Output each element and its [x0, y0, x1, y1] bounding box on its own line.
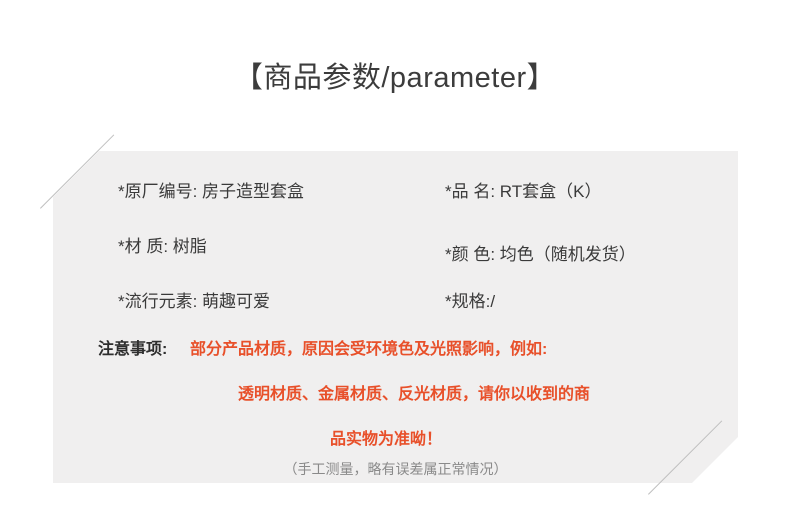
parameter-product-name: *品 名: RT套盒（K） — [445, 178, 601, 206]
notice-text-line-3: 品实物为准呦！ — [330, 428, 442, 452]
page-title: 【商品参数/parameter】 — [0, 58, 790, 98]
parameter-specification: *规格:/ — [445, 288, 495, 316]
parameter-factory-code: *原厂编号: 房子造型套盒 — [118, 178, 304, 206]
notice-text-line-2: 透明材质、金属材质、反光材质，请你以收到的商 — [238, 383, 590, 407]
parameter-material: *材 质: 树脂 — [118, 233, 207, 261]
parameter-row: *原厂编号: 房子造型套盒 *品 名: RT套盒（K） — [53, 178, 738, 206]
parameter-color: *颜 色: 均色（随机发货） — [445, 241, 636, 269]
parameter-row: *材 质: 树脂 *颜 色: 均色（随机发货） — [53, 233, 738, 261]
notice-label: 注意事项: — [98, 338, 167, 362]
product-parameter-panel: 【商品参数/parameter】 *原厂编号: 房子造型套盒 *品 名: RT套… — [0, 0, 790, 527]
measurement-footnote: （手工测量，略有误差属正常情况） — [53, 459, 738, 479]
notice-text-line-1: 部分产品材质，原因会受环境色及光照影响，例如: — [190, 338, 547, 362]
parameter-trend-element: *流行元素: 萌趣可爱 — [118, 288, 270, 316]
parameter-row: *流行元素: 萌趣可爱 *规格:/ — [53, 288, 738, 316]
